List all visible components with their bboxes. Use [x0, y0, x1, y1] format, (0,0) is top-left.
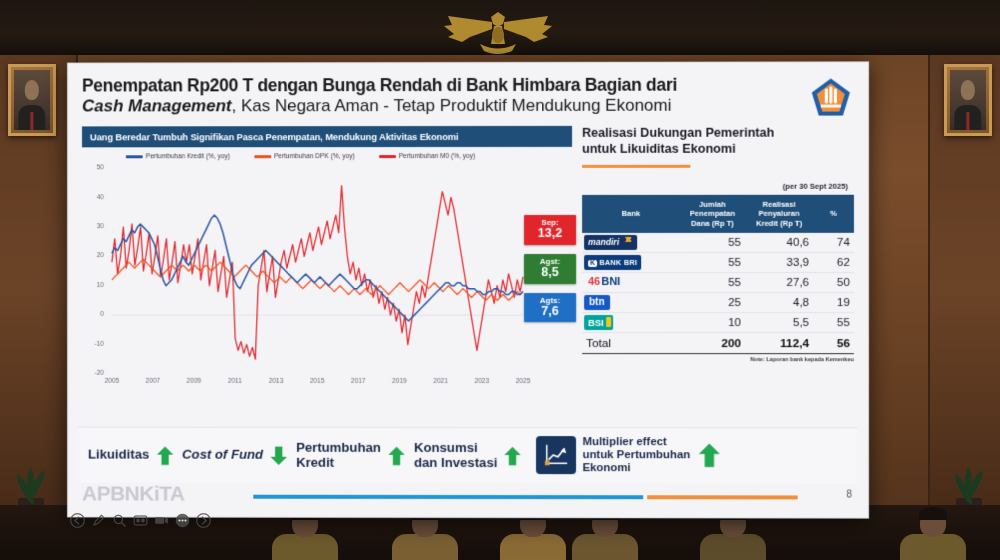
callout-sep: Sep: 13,2 — [524, 215, 576, 245]
x-axis-tick-label: 2007 — [146, 378, 161, 385]
bank-bni-label: 46BNI — [584, 275, 624, 290]
framed-portrait-left — [8, 64, 56, 136]
table-header: Bank Jumlah Penempatan Dana (Rp T) Reali… — [582, 194, 854, 233]
column-header-bank-line-1: Bank — [585, 209, 677, 219]
column-header-percent-line-1: % — [816, 209, 851, 219]
legend-item-dpk: Pertumbuhan DPK (%, yoy) — [254, 153, 355, 160]
right-heading-line-2: untuk Likuiditas Ekonomi — [582, 141, 854, 157]
media-control-toolbar[interactable] — [70, 513, 211, 528]
table-row: btn 25 4,8 19 — [582, 293, 854, 313]
cell-percent: 19 — [813, 293, 854, 313]
table-row: BSI 10 5,5 55 — [582, 313, 854, 333]
column-header-penempatan-line-3: Dana (Rp T) — [683, 218, 742, 228]
kemenkeu-logo — [810, 76, 852, 118]
chart-series-line — [112, 186, 523, 360]
bank-btn-logo: btn — [582, 293, 680, 313]
chart-callouts: Sep: 13,2 Agst: 8,5 Agts: 7,6 — [524, 215, 576, 322]
title-line-1: Penempatan Rp200 T dengan Bunga Rendah d… — [82, 75, 784, 97]
chart-plot-area: 50403020100-10-20 2005200720092011201320… — [82, 162, 572, 402]
callout-agts: Agts: 7,6 — [524, 293, 576, 323]
arrow-up-icon — [696, 442, 722, 470]
title-line-2-rest: , Kas Negara Aman - Tetap Produktif Mend… — [232, 96, 672, 116]
table-body: mandiri 55 40,6 74 KBANK BRI 55 33,9 62 — [582, 233, 854, 333]
column-header-realisasi-line-1: Realisasi — [748, 199, 810, 209]
column-header-percent: % — [813, 194, 854, 233]
legend-item-kredit: Pertumbuhan Kredit (%, yoy) — [126, 153, 230, 160]
column-header-realisasi-line-2: Penyaluran — [748, 209, 810, 219]
cell-penempatan: 55 — [680, 252, 745, 272]
legend-label-dpk: Pertumbuhan DPK (%, yoy) — [274, 153, 355, 160]
video-camera-icon[interactable] — [154, 513, 169, 528]
right-heading: Realisasi Dukungan Pemerintah untuk Liku… — [582, 126, 854, 158]
x-axis-tick-label: 2019 — [392, 378, 407, 385]
column-header-realisasi: Realisasi Penyaluran Kredit (Rp T) — [745, 194, 813, 233]
section-banner: Uang Beredar Tumbuh Signifikan Pasca Pen… — [82, 126, 572, 147]
x-axis-tick-label: 2025 — [516, 378, 531, 385]
audience-person — [900, 509, 966, 560]
x-axis-tick-label: 2009 — [187, 378, 202, 385]
bni-mark: 46 — [588, 276, 600, 288]
callout-agst: Agst: 8,5 — [524, 254, 576, 284]
cell-percent: 62 — [813, 252, 854, 272]
cell-realisasi: 4,8 — [745, 293, 813, 313]
projection-screen: Penempatan Rp200 T dengan Bunga Rendah d… — [67, 61, 869, 518]
bank-realization-table: Bank Jumlah Penempatan Dana (Rp T) Reali… — [582, 194, 854, 354]
orange-rule — [582, 164, 690, 167]
cell-penempatan: 10 — [680, 313, 745, 333]
bank-bsi-label: BSI — [584, 315, 613, 330]
total-realisasi: 112,4 — [745, 333, 813, 354]
table-row: 46BNI 55 27,6 50 — [582, 272, 854, 292]
chart-lines — [82, 162, 581, 390]
summary-item-konsumsi-investasi: Konsumsi dan Investasi — [414, 441, 523, 471]
column-header-penempatan: Jumlah Penempatan Dana (Rp T) — [680, 194, 745, 233]
arrow-up-icon — [155, 444, 174, 466]
x-axis-tick-label: 2013 — [269, 378, 284, 385]
multiplier-text: Multiplier effect untuk Pertumbuhan Ekon… — [583, 436, 691, 474]
summary-item-multiplier-effect: Multiplier effect untuk Pertumbuhan Ekon… — [536, 436, 722, 475]
apbnkita-logo: APBNKiTA — [82, 483, 184, 507]
table-footer: Total 200 112,4 56 — [582, 333, 854, 354]
callout-agst-value: 8,5 — [524, 266, 576, 280]
growth-chart-icon — [536, 437, 576, 475]
money-supply-chart: Pertumbuhan Kredit (%, yoy) Pertumbuhan … — [82, 153, 572, 421]
cell-realisasi: 27,6 — [745, 272, 813, 292]
bank-btn-label: btn — [584, 295, 610, 310]
cell-realisasi: 33,9 — [745, 252, 813, 272]
as-of-date: (per 30 Sept 2025) — [582, 181, 848, 190]
legend-swatch-dpk — [254, 155, 271, 158]
total-percent: 56 — [813, 333, 854, 354]
summary-item-likuiditas: Likuiditas — [88, 444, 174, 466]
slide-title: Penempatan Rp200 T dengan Bunga Rendah d… — [82, 74, 854, 117]
table-row: KBANK BRI 55 33,9 62 — [582, 252, 854, 272]
table-note: Note: Laporan bank kepada Kemenkeu — [582, 357, 854, 363]
cell-realisasi: 40,6 — [745, 233, 813, 253]
summary-label-likuiditas: Likuiditas — [88, 448, 149, 463]
pen-icon[interactable] — [91, 513, 106, 528]
arrow-up-icon — [503, 445, 522, 467]
right-heading-line-1: Realisasi Dukungan Pemerintah — [582, 126, 854, 142]
x-axis-tick-label: 2017 — [351, 378, 366, 385]
column-header-penempatan-line-2: Penempatan — [683, 209, 742, 219]
table-total-row: Total 200 112,4 56 — [582, 333, 854, 354]
back-arrow-icon[interactable] — [70, 513, 85, 528]
x-axis-tick-label: 2005 — [105, 378, 120, 385]
x-axis-tick-label: 2021 — [433, 378, 448, 385]
footer-rule-orange — [647, 495, 797, 499]
cell-penempatan: 55 — [680, 233, 745, 253]
total-penempatan: 200 — [680, 333, 745, 354]
bank-bsi-logo: BSI — [582, 313, 680, 333]
right-column: Realisasi Dukungan Pemerintah untuk Liku… — [582, 126, 854, 422]
bni-text: BNI — [601, 276, 620, 288]
x-axis-tick-label: 2011 — [228, 378, 242, 385]
cell-percent: 74 — [813, 233, 854, 253]
cell-penempatan: 55 — [680, 272, 745, 292]
multiplier-line-1: Multiplier effect — [583, 436, 691, 449]
bank-mandiri-label: mandiri — [584, 235, 637, 250]
column-header-penempatan-line-1: Jumlah — [683, 199, 742, 209]
callout-sep-value: 13,2 — [524, 227, 576, 241]
summary-banner: Likuiditas Cost of Fund Pertumbuhan Kred… — [78, 427, 858, 484]
column-header-realisasi-line-3: Kredit (Rp T) — [748, 218, 810, 228]
legend-item-m0: Pertumbuhan M0 (%, yoy) — [379, 153, 476, 160]
bank-bri-logo: KBANK BRI — [582, 252, 680, 272]
summary-label-konsumsi-investasi: Konsumsi dan Investasi — [414, 441, 498, 471]
multiplier-line-2: untuk Pertumbuhan — [583, 449, 691, 462]
summary-item-cost-of-fund: Cost of Fund — [182, 444, 288, 466]
garuda-emblem — [432, 4, 564, 58]
bri-text: BANK BRI — [599, 258, 637, 267]
cell-percent: 50 — [813, 272, 854, 292]
summary-label-cost-of-fund: Cost of Fund — [182, 448, 263, 463]
x-axis-tick-label: 2023 — [474, 378, 489, 385]
more-options-icon[interactable] — [175, 513, 190, 528]
bank-bni-logo: 46BNI — [582, 272, 680, 292]
title-line-2: Cash Management, Kas Negara Aman - Tetap… — [82, 96, 784, 118]
footer-rule-blue — [253, 495, 643, 499]
legend-swatch-m0 — [379, 155, 396, 158]
column-header-bank: Bank — [582, 194, 680, 233]
framed-portrait-right — [944, 64, 992, 136]
title-emphasis: Cash Management — [82, 97, 232, 116]
forward-arrow-icon[interactable] — [196, 513, 211, 528]
total-label: Total — [582, 333, 680, 354]
cell-realisasi: 5,5 — [745, 313, 813, 333]
summary-item-pertumbuhan-kredit: Pertumbuhan Kredit — [296, 441, 406, 471]
page-number: 8 — [846, 489, 852, 500]
legend-label-kredit: Pertumbuhan Kredit (%, yoy) — [146, 153, 230, 160]
multiplier-line-3: Ekonomi — [583, 462, 691, 475]
cell-penempatan: 25 — [680, 293, 745, 313]
arrow-down-icon — [269, 444, 288, 466]
callout-agts-value: 7,6 — [524, 305, 576, 319]
summary-label-pertumbuhan-kredit: Pertumbuhan Kredit — [296, 441, 381, 471]
legend-label-m0: Pertumbuhan M0 (%, yoy) — [399, 153, 476, 160]
left-column: Uang Beredar Tumbuh Signifikan Pasca Pen… — [82, 126, 572, 421]
table-header-row: Bank Jumlah Penempatan Dana (Rp T) Reali… — [582, 194, 854, 233]
magnifier-icon[interactable] — [112, 513, 127, 528]
cell-percent: 55 — [813, 313, 854, 333]
bank-bri-label: KBANK BRI — [584, 255, 641, 270]
arrow-up-icon — [387, 444, 406, 466]
legend-swatch-kredit — [126, 156, 143, 159]
bank-mandiri-logo: mandiri — [582, 233, 680, 253]
x-axis-tick-label: 2015 — [310, 378, 325, 385]
table-row: mandiri 55 40,6 74 — [582, 233, 854, 253]
bri-mark: K — [588, 260, 597, 267]
closed-caption-icon[interactable] — [133, 513, 148, 528]
chart-legend: Pertumbuhan Kredit (%, yoy) Pertumbuhan … — [82, 153, 572, 160]
presentation-slide: Penempatan Rp200 T dengan Bunga Rendah d… — [68, 62, 868, 517]
